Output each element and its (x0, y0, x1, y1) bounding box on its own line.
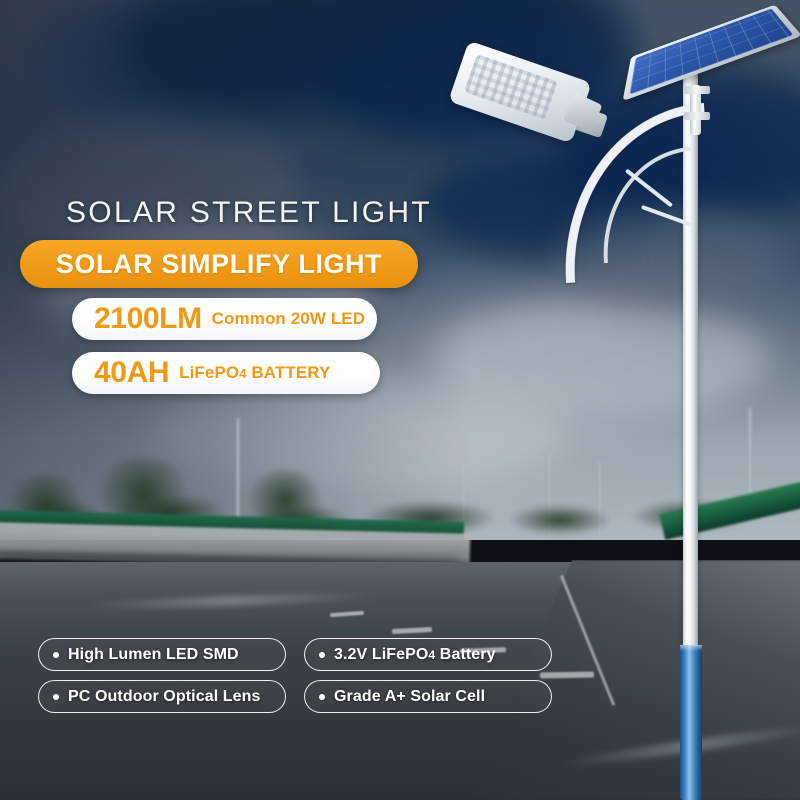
bullet-icon (319, 694, 325, 700)
feature-pill-grid: High Lumen LED SMD 3.2V LiFePO4 Battery … (38, 638, 552, 713)
feature-label-main: 3.2V LiFePO (334, 646, 428, 663)
spec-label-battery-sub: 4 (239, 366, 246, 381)
spec-value-battery: 40AH (94, 356, 169, 390)
bullet-icon (53, 652, 59, 658)
feature-pill-lifepo4-battery[interactable]: 3.2V LiFePO4 Battery (304, 638, 552, 671)
feature-label: Grade A+ Solar Cell (334, 688, 485, 706)
spec-label-lumen: Common 20W LED (212, 309, 365, 329)
bullet-icon (319, 652, 325, 658)
feature-label: PC Outdoor Optical Lens (68, 688, 261, 706)
blue-pole-base (680, 645, 702, 800)
page-title: SOLAR STREET LIGHT (66, 196, 432, 230)
bullet-icon (53, 694, 59, 700)
feature-label: High Lumen LED SMD (68, 646, 239, 664)
feature-pill-grade-a-solar-cell[interactable]: Grade A+ Solar Cell (304, 680, 552, 713)
spec-label-battery-tail: BATTERY (247, 363, 331, 382)
spec-label-battery: LiFePO4 BATTERY (179, 363, 330, 383)
banner-solar-simplify: SOLAR SIMPLIFY LIGHT (20, 240, 418, 288)
spec-pill-battery: 40AH LiFePO4 BATTERY (72, 352, 380, 394)
spec-value-lumen: 2100LM (94, 302, 202, 336)
feature-pill-high-lumen-led-smd[interactable]: High Lumen LED SMD (38, 638, 286, 671)
solar-panel-clamp-1 (684, 86, 710, 94)
banner-label: SOLAR SIMPLIFY LIGHT (56, 249, 383, 280)
solar-panel-clamp-2 (684, 112, 710, 120)
spec-label-battery-main: LiFePO (179, 363, 239, 382)
spec-pill-lumen: 2100LM Common 20W LED (72, 298, 377, 340)
feature-pill-pc-outdoor-optical-lens[interactable]: PC Outdoor Optical Lens (38, 680, 286, 713)
product-poster: SOLAR STREET LIGHT SOLAR SIMPLIFY LIGHT … (0, 0, 800, 800)
feature-label: 3.2V LiFePO4 Battery (334, 646, 496, 664)
feature-label-tail: Battery (435, 646, 495, 663)
